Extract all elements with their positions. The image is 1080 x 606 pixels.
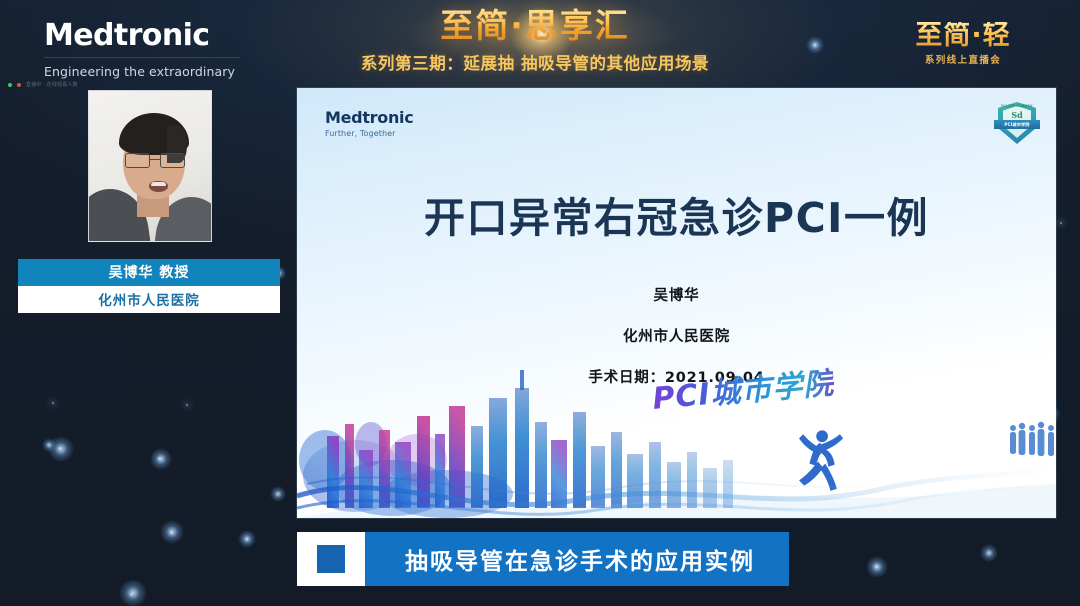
live-status-text: 直播中 · 在线观看人数 — [26, 81, 78, 88]
event-banner: 至简·思享汇 系列第三期：延展抽 抽吸导管的其他应用场景 — [300, 8, 770, 74]
caption-text: 抽吸导管在急诊手术的应用实例 — [365, 532, 789, 586]
speaker-nameplate: 吴博华 教授 化州市人民医院 — [18, 259, 280, 313]
series-logo: 至简·轻 系列线上直播会 — [888, 22, 1038, 66]
badge-ribbon-text: PCI城市学院 — [1004, 122, 1029, 128]
badge-symbol: Sd — [994, 110, 1040, 120]
slide-title: 开口异常右冠急诊PCI一例 — [297, 184, 1056, 244]
speaker-mouth — [149, 181, 168, 192]
pci-academy-badge-icon: PCI CITY ACADEMY Sd PCI城市学院 CHINA — [994, 102, 1040, 146]
square-icon — [317, 545, 345, 573]
medtronic-brand-block: Medtronic Engineering the extraordinary — [44, 20, 294, 79]
badge-ribbon: PCI城市学院 — [994, 120, 1040, 129]
speaker-name: 吴博华 教授 — [18, 259, 280, 286]
medtronic-tagline: Engineering the extraordinary — [44, 64, 294, 79]
record-indicator-dot — [17, 83, 21, 87]
live-indicator-dot — [8, 83, 12, 87]
slide-medtronic-logo: Medtronic Further, Together — [325, 108, 413, 138]
medtronic-wordmark: Medtronic — [44, 20, 294, 52]
badge-foot-text: CHINA — [994, 130, 1040, 134]
badge-arc-text: PCI CITY ACADEMY — [1000, 104, 1034, 108]
presenter-hospital: 化州市人民医院 — [297, 325, 1056, 346]
brand-divider — [44, 57, 240, 58]
live-status-strip: 直播中 · 在线观看人数 — [8, 81, 78, 88]
event-subtitle: 系列第三期：延展抽 抽吸导管的其他应用场景 — [300, 50, 770, 74]
topic-caption-bar: 抽吸导管在急诊手术的应用实例 — [297, 532, 789, 586]
glasses-icon — [125, 153, 185, 168]
speaker-webcam-feed[interactable] — [88, 90, 212, 242]
slide-logo-tagline: Further, Together — [325, 129, 413, 138]
presenter-name: 吴博华 — [297, 284, 1056, 305]
broadcast-stage: Medtronic Engineering the extraordinary … — [0, 0, 1080, 606]
presentation-slide[interactable]: Medtronic Further, Together PCI CITY ACA… — [297, 88, 1056, 518]
series-logo-subtitle: 系列线上直播会 — [888, 52, 1038, 66]
speaker-hospital: 化州市人民医院 — [18, 286, 280, 313]
series-logo-title: 至简·轻 — [888, 22, 1038, 50]
event-title: 至简·思享汇 — [300, 8, 770, 45]
caption-icon-box — [297, 532, 365, 586]
slide-logo-name: Medtronic — [325, 108, 413, 127]
